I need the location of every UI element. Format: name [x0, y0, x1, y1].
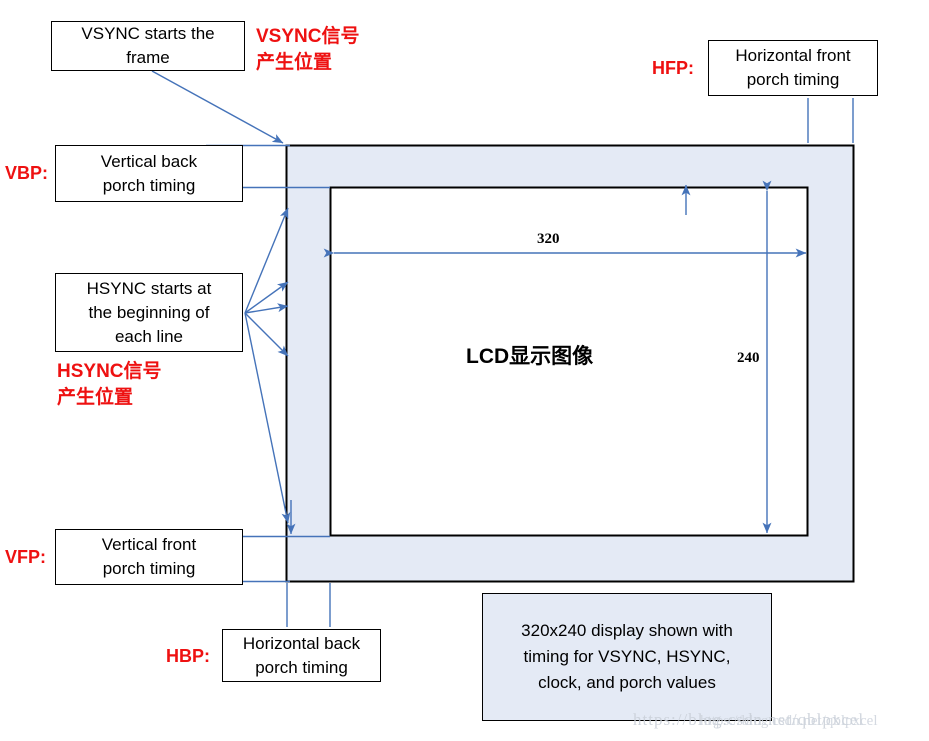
dimension-label-width: 320: [537, 231, 560, 248]
callout-hbp: Horizontal back porch timing: [222, 629, 381, 682]
watermark-url-2: https://blog.csdn.net/qblpxcel: [700, 713, 877, 730]
callout-hsync-note: HSYNC starts at the beginning of each li…: [55, 273, 243, 352]
dimension-label-height: 240: [737, 350, 760, 367]
callout-summary: 320x240 display shown with timing for VS…: [482, 593, 772, 721]
red-label-vbp: VBP:: [5, 162, 48, 184]
callout-vbp: Vertical back porch timing: [55, 145, 243, 202]
red-label-hsync-cn: HSYNC信号 产生位置: [57, 359, 162, 411]
lcd-timing-diagram: VSYNC starts the frame VSYNC信号 产生位置 VBP:…: [0, 0, 929, 741]
red-label-vfp: VFP:: [5, 546, 46, 568]
red-label-hbp: HBP:: [166, 645, 210, 667]
red-label-vsync-cn: VSYNC信号 产生位置: [256, 24, 359, 76]
red-label-hfp: HFP:: [652, 57, 694, 79]
callout-hfp: Horizontal front porch timing: [708, 40, 878, 96]
callout-vfp: Vertical front porch timing: [55, 529, 243, 585]
callout-vsync-note: VSYNC starts the frame: [51, 21, 245, 71]
lcd-area-label: LCD显示图像: [466, 344, 593, 370]
